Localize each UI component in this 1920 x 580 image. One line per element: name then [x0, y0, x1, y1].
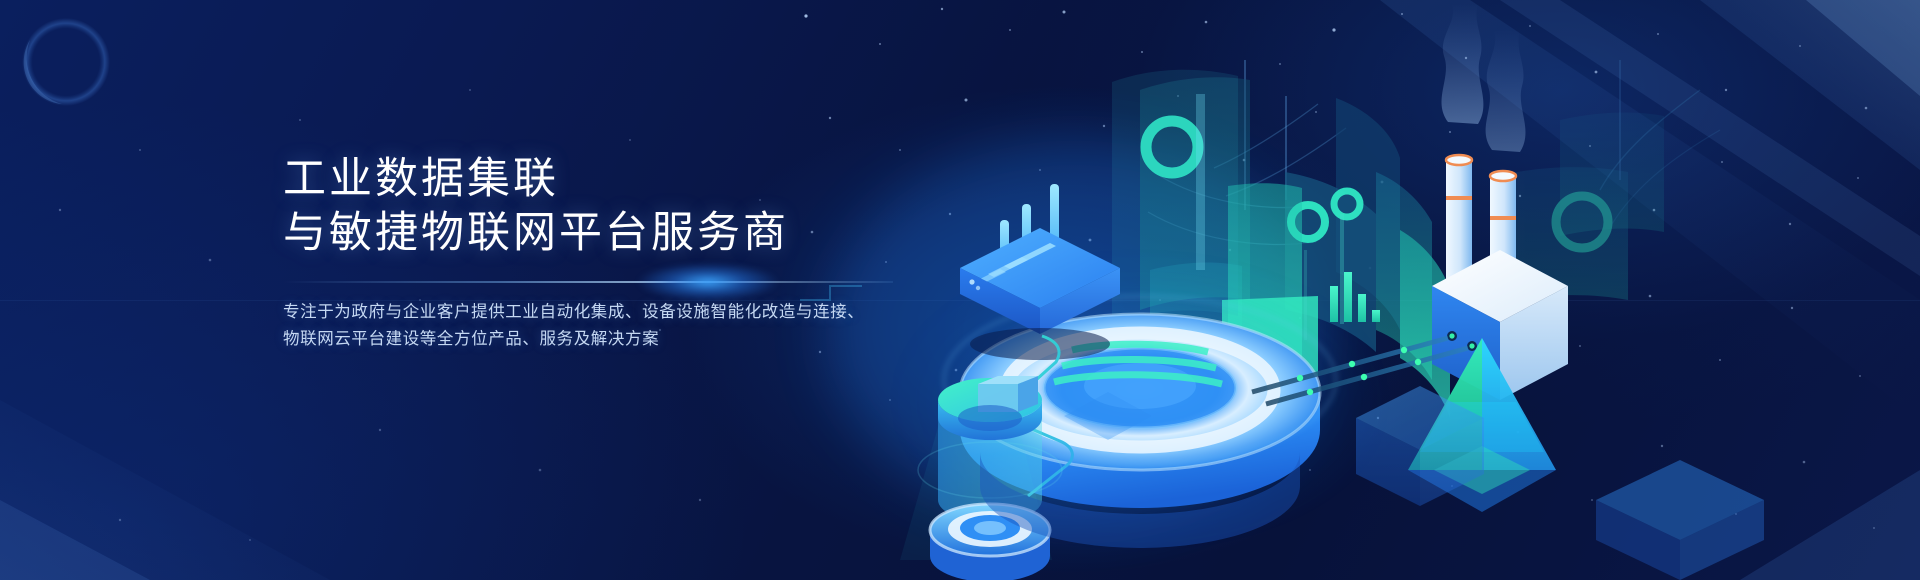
- subtitle-line-2: 物联网云平台建设等全方位产品、服务及解决方案: [283, 326, 903, 353]
- hero-copy: 工业数据集联 与敏捷物联网平台服务商 专注于为政府与企业客户提供工业自动化集成、…: [283, 152, 903, 353]
- headline-line-1: 工业数据集联: [283, 152, 903, 206]
- smoke-plume-1: [1442, 4, 1484, 124]
- right-cube-fragment: [1596, 460, 1764, 580]
- subtitle-line-1: 专注于为政府与企业客户提供工业自动化集成、设备设施智能化改造与连接、: [283, 299, 903, 326]
- hero-banner: 工业数据集联 与敏捷物联网平台服务商 专注于为政府与企业客户提供工业自动化集成、…: [0, 0, 1920, 580]
- hero-subtitle: 专注于为政府与企业客户提供工业自动化集成、设备设施智能化改造与连接、 物联网云平…: [283, 299, 903, 353]
- smoke-plume-2: [1486, 30, 1526, 152]
- divider-glow: [613, 256, 803, 308]
- headline-divider: [283, 281, 893, 283]
- headline-line-2: 与敏捷物联网平台服务商: [283, 206, 903, 260]
- smokestack-1: [1446, 160, 1472, 282]
